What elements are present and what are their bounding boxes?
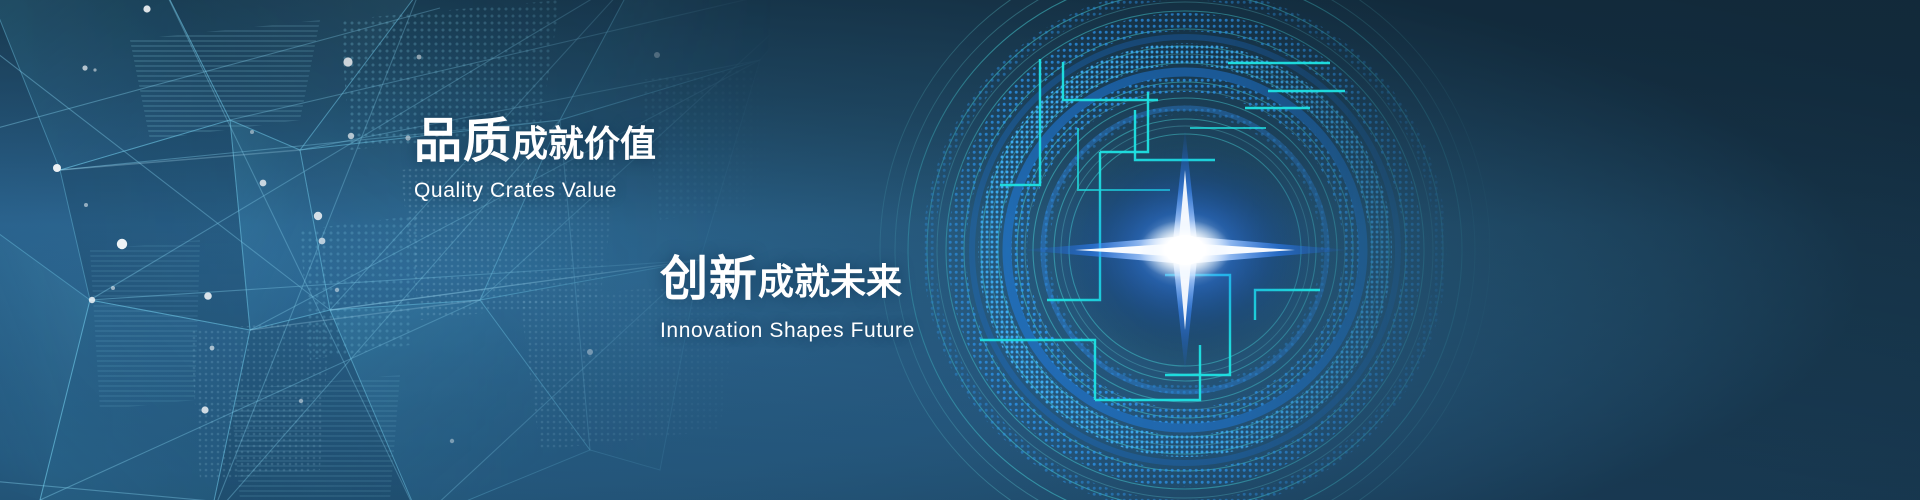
hero-banner: 品质成就价值 Quality Crates Value 创新成就未来 Innov… [0,0,1920,500]
slogan-block-quality: 品质成就价值 Quality Crates Value [414,118,656,203]
slogan-cn-lead: 创新 [660,253,758,306]
slogan-cn-rest: 成就未来 [758,261,902,302]
slogan-cn-innovation: 创新成就未来 [660,256,915,304]
slogan-en-innovation: Innovation Shapes Future [660,319,915,343]
slogan-cn-quality: 品质成就价值 [414,118,656,166]
slogan-en-quality: Quality Crates Value [414,179,656,203]
starburst-flare [0,0,1920,500]
slogan-cn-rest: 成就价值 [512,123,656,164]
slogan-block-innovation: 创新成就未来 Innovation Shapes Future [660,256,915,343]
slogan-cn-lead: 品质 [414,115,512,168]
